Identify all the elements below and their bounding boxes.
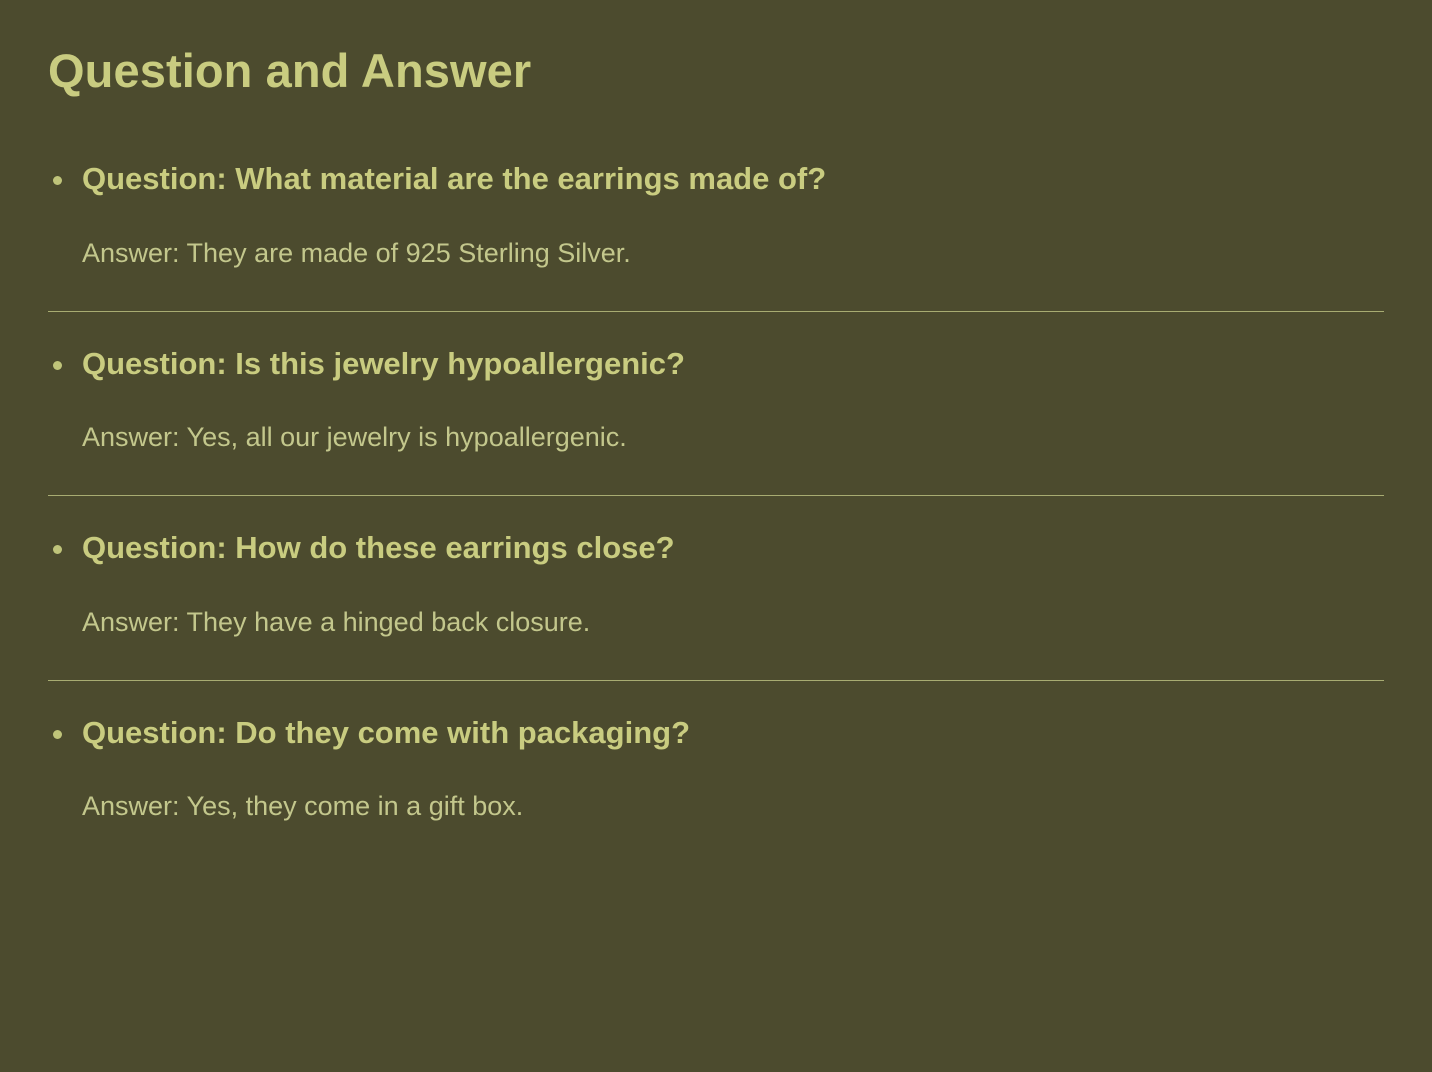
qa-answer: Answer: Yes, they come in a gift box. [48,790,1384,824]
bullet-dot-icon [53,730,62,739]
qa-question: Question: Is this jewelry hypoallergenic… [48,345,1384,384]
qa-question-text: Question: How do these earrings close? [82,530,675,565]
qa-divider [48,311,1384,312]
bullet-dot-icon [53,545,62,554]
qa-divider [48,680,1384,681]
qa-block: Question: How do these earrings close? A… [0,529,1432,681]
qa-question: Question: What material are the earrings… [48,160,1384,199]
bullet-dot-icon [53,361,62,370]
page-title: Question and Answer [48,44,531,98]
qa-list: Question: What material are the earrings… [0,160,1432,824]
qa-answer: Answer: They have a hinged back closure. [48,606,1384,640]
qa-question-text: Question: Do they come with packaging? [82,715,690,750]
qa-page: Question and Answer Question: What mater… [0,0,1432,1072]
qa-question-text: Question: What material are the earrings… [82,161,826,196]
qa-question: Question: How do these earrings close? [48,529,1384,568]
bullet-dot-icon [53,176,62,185]
qa-question: Question: Do they come with packaging? [48,714,1384,753]
qa-block: Question: Do they come with packaging? A… [0,714,1432,825]
qa-question-text: Question: Is this jewelry hypoallergenic… [82,346,685,381]
qa-divider [48,495,1384,496]
qa-block: Question: What material are the earrings… [0,160,1432,312]
qa-answer: Answer: Yes, all our jewelry is hypoalle… [48,421,1384,455]
qa-block: Question: Is this jewelry hypoallergenic… [0,345,1432,497]
qa-answer: Answer: They are made of 925 Sterling Si… [48,237,1384,271]
